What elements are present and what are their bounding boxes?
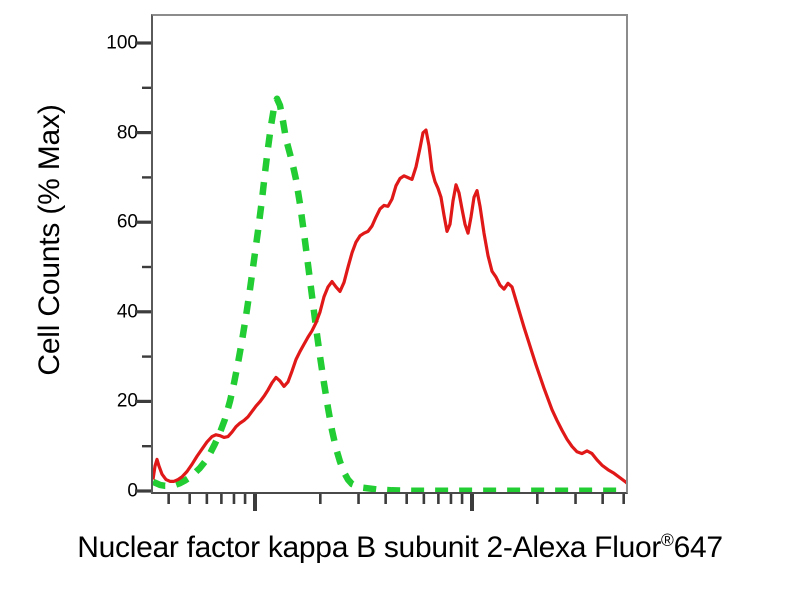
y-axis-title: Cell Counts (% Max) (18, 0, 82, 480)
flow-cytometry-histogram-figure: Cell Counts (% Max) 020406080100 Nuclear… (0, 0, 800, 600)
x-axis-title-tail: 647 (674, 531, 723, 564)
control-trace (153, 99, 628, 491)
y-tick-label: 20 (86, 392, 138, 411)
y-tick-label: 40 (86, 302, 138, 321)
histogram-traces (153, 16, 628, 494)
y-tick-label: 80 (86, 123, 138, 142)
plot-area (151, 14, 628, 494)
sample-trace (153, 130, 628, 486)
x-axis-title-main: Nuclear factor kappa B subunit 2-Alexa F… (77, 531, 661, 564)
y-tick-label: 60 (86, 213, 138, 232)
y-axis-tick-labels: 020406080100 (86, 0, 138, 600)
registered-trademark-icon: ® (661, 530, 674, 550)
x-axis-title: Nuclear factor kappa B subunit 2-Alexa F… (0, 531, 800, 565)
y-tick-label: 100 (86, 34, 138, 53)
y-tick-label: 0 (86, 482, 138, 501)
